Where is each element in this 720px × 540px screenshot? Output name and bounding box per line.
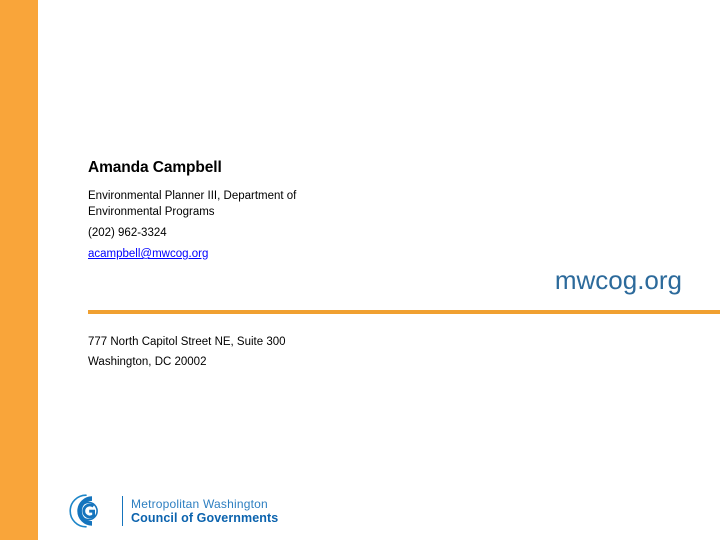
cog-circle-g-mark bbox=[62, 493, 116, 529]
site-wordmark: mwcog.org bbox=[555, 265, 682, 295]
logo-line-metropolitan-washington: Metropolitan Washington bbox=[131, 497, 278, 511]
address-block: 777 North Capitol Street NE, Suite 300 W… bbox=[88, 332, 508, 372]
person-email-link[interactable]: acampbell@mwcog.org bbox=[88, 246, 208, 262]
orange-divider bbox=[88, 310, 720, 314]
left-accent-band bbox=[0, 0, 38, 540]
person-name: Amanda Campbell bbox=[88, 158, 508, 178]
address-line-1: 777 North Capitol Street NE, Suite 300 bbox=[88, 332, 508, 352]
person-phone: (202) 962-3324 bbox=[88, 225, 508, 241]
logo-line-council-of-governments: Council of Governments bbox=[131, 511, 278, 526]
cog-logo: Metropolitan Washington Council of Gover… bbox=[62, 491, 278, 531]
contact-block: Amanda Campbell Environmental Planner II… bbox=[88, 158, 508, 262]
logo-divider-rule bbox=[122, 496, 123, 526]
person-title: Environmental Planner III, Department of… bbox=[88, 188, 338, 220]
address-line-2: Washington, DC 20002 bbox=[88, 352, 508, 372]
logo-wordmark: Metropolitan Washington Council of Gover… bbox=[131, 497, 278, 526]
slide-canvas: Amanda Campbell Environmental Planner II… bbox=[0, 0, 720, 540]
